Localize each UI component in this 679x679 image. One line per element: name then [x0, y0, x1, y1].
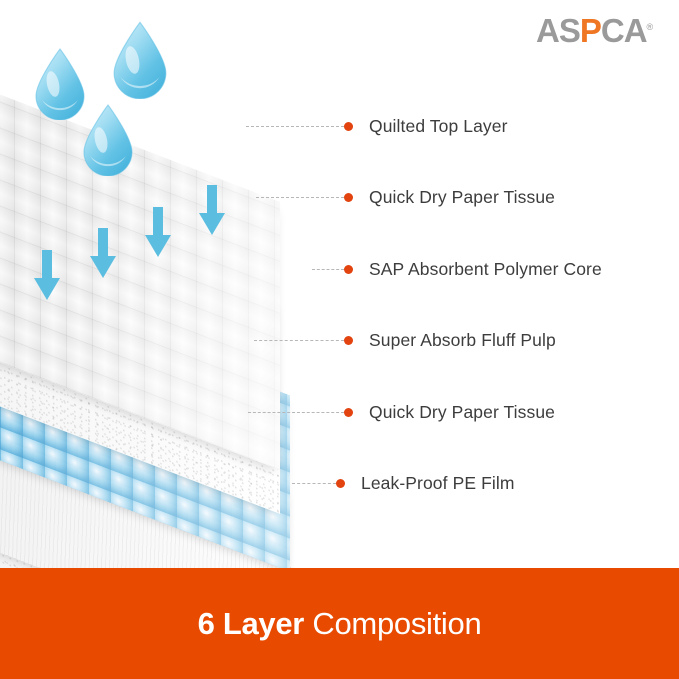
callout-super-absorb-fluff-pulp: Super Absorb Fluff Pulp [344, 330, 556, 350]
logo-text-ca: CA [601, 12, 647, 49]
callout-quick-dry-paper-tissue-top: Quick Dry Paper Tissue [344, 187, 555, 207]
callout-label-super-absorb-fluff-pulp: Super Absorb Fluff Pulp [369, 330, 556, 351]
callout-dot-quilted-top-layer [344, 122, 353, 131]
product-infographic: Quilted Top LayerQuick Dry Paper TissueS… [0, 0, 679, 679]
logo-text-as: AS [536, 12, 580, 49]
callout-dot-sap-absorbent-polymer-core [344, 265, 353, 274]
water-droplet-left [34, 48, 86, 120]
water-droplet-top [112, 21, 168, 99]
leader-line-super-absorb-fluff-pulp [254, 340, 344, 341]
callout-leak-proof-pe-film: Leak-Proof PE Film [336, 473, 515, 493]
composition-banner: 6 Layer Composition [0, 568, 679, 679]
callout-dot-quick-dry-paper-tissue-top [344, 193, 353, 202]
absorb-arrow-2 [89, 228, 117, 280]
leader-line-quilted-top-layer [246, 126, 344, 127]
aspca-logo: ASPCA® [536, 14, 652, 47]
logo-text-p: P [580, 12, 601, 49]
leader-line-leak-proof-pe-film [292, 483, 336, 484]
callout-label-quick-dry-paper-tissue-bottom: Quick Dry Paper Tissue [369, 402, 555, 423]
registered-trademark-icon: ® [647, 22, 653, 32]
callout-dot-quick-dry-paper-tissue-bottom [344, 408, 353, 417]
callout-dot-leak-proof-pe-film [336, 479, 345, 488]
banner-headline-light-text: Composition [312, 606, 481, 641]
leader-line-quick-dry-paper-tissue-top [256, 197, 344, 198]
callout-dot-super-absorb-fluff-pulp [344, 336, 353, 345]
callout-sap-absorbent-polymer-core: SAP Absorbent Polymer Core [344, 259, 602, 279]
callout-quilted-top-layer: Quilted Top Layer [344, 116, 508, 136]
absorb-arrow-3 [144, 207, 172, 259]
callout-label-quilted-top-layer: Quilted Top Layer [369, 116, 508, 137]
leader-line-quick-dry-paper-tissue-bottom [248, 412, 344, 413]
absorb-arrow-4 [198, 185, 226, 237]
banner-headline: 6 Layer Composition [198, 606, 482, 642]
callout-label-quick-dry-paper-tissue-top: Quick Dry Paper Tissue [369, 187, 555, 208]
callout-label-sap-absorbent-polymer-core: SAP Absorbent Polymer Core [369, 259, 602, 280]
water-droplet-bottom [82, 104, 134, 176]
callout-label-leak-proof-pe-film: Leak-Proof PE Film [361, 473, 515, 494]
leader-line-sap-absorbent-polymer-core [312, 269, 344, 270]
banner-headline-strong: 6 Layer [198, 606, 304, 641]
callout-quick-dry-paper-tissue-bottom: Quick Dry Paper Tissue [344, 402, 555, 422]
absorb-arrow-1 [33, 250, 61, 302]
